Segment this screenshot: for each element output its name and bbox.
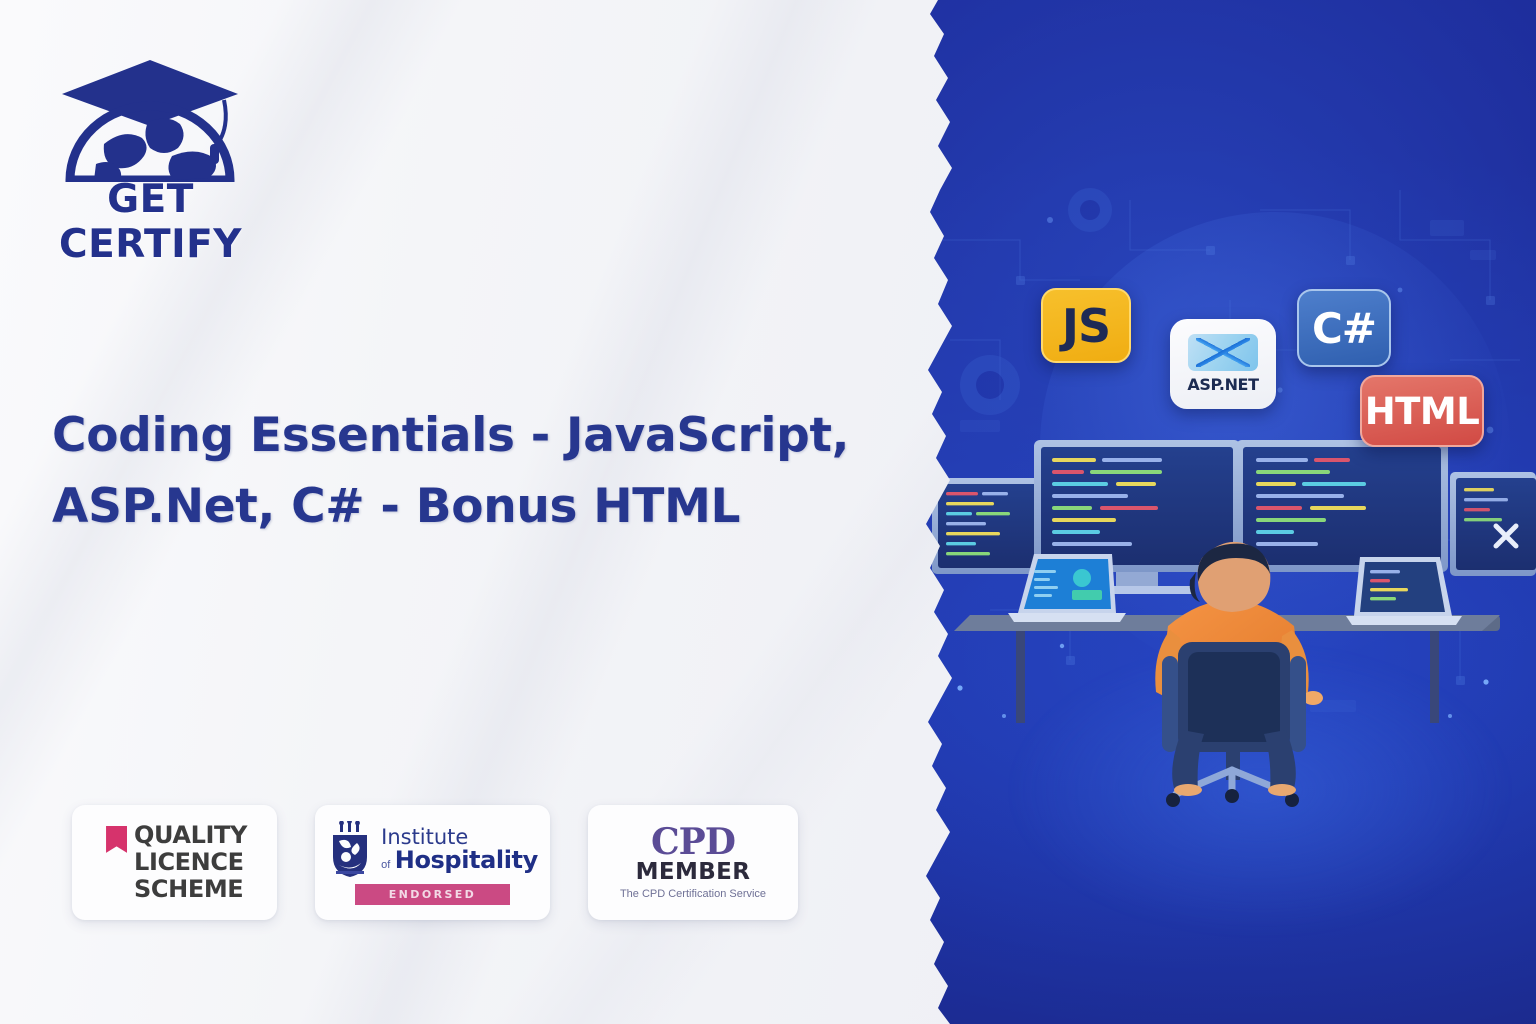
brand-logo-text: GET CERTIFY (48, 177, 253, 267)
left-paper-panel: GET CERTIFY Coding Essentials - JavaScri… (0, 0, 1010, 1024)
qls-line-3: SCHEME (134, 876, 247, 903)
tech-badge-html: HTML (1360, 375, 1484, 447)
ioh-line-1: Institute (381, 827, 538, 848)
badge-quality-licence-scheme: QUALITY LICENCE SCHEME (72, 805, 277, 920)
tech-badge-js-label: JS (1062, 299, 1110, 353)
tech-badge-aspnet: ASP.NET (1170, 319, 1276, 409)
course-banner: JS ASP.NET C# HTML (0, 0, 1536, 1024)
ioh-line-2: Hospitality (395, 846, 538, 874)
badge-cpd-member: CPD MEMBER The CPD Certification Service (588, 805, 798, 920)
badge-institute-of-hospitality: Institute of Hospitality ENDORSED (315, 805, 550, 920)
ioh-endorsed-banner: ENDORSED (355, 884, 510, 905)
tech-badge-html-label: HTML (1365, 390, 1480, 433)
page-title-line-1: Coding Essentials - JavaScript, (52, 400, 872, 471)
tech-badge-js: JS (1041, 288, 1131, 363)
brand-logo[interactable]: GET CERTIFY (48, 52, 253, 227)
heraldic-crest-icon (327, 821, 373, 879)
accreditation-badges: QUALITY LICENCE SCHEME (72, 805, 798, 920)
bookmark-ribbon-icon (106, 826, 127, 853)
tech-badge-csharp-label: C# (1312, 304, 1376, 353)
page-title-line-2: ASP.Net, C# - Bonus HTML (52, 471, 872, 542)
tech-badge-aspnet-label: ASP.NET (1187, 375, 1258, 394)
tech-badge-csharp: C# (1297, 289, 1391, 367)
graduation-cap-globe-icon (48, 52, 253, 182)
developer-illustration (930, 430, 1536, 820)
ioh-connector: of (381, 859, 390, 871)
cpd-subtitle: The CPD Certification Service (620, 888, 766, 901)
qls-line-1: QUALITY (134, 822, 247, 849)
page-title: Coding Essentials - JavaScript, ASP.Net,… (52, 400, 872, 543)
cpd-mark: CPD (651, 824, 735, 860)
aspnet-logo-icon (1188, 334, 1258, 371)
cpd-member-label: MEMBER (636, 861, 751, 884)
qls-line-2: LICENCE (134, 849, 247, 876)
